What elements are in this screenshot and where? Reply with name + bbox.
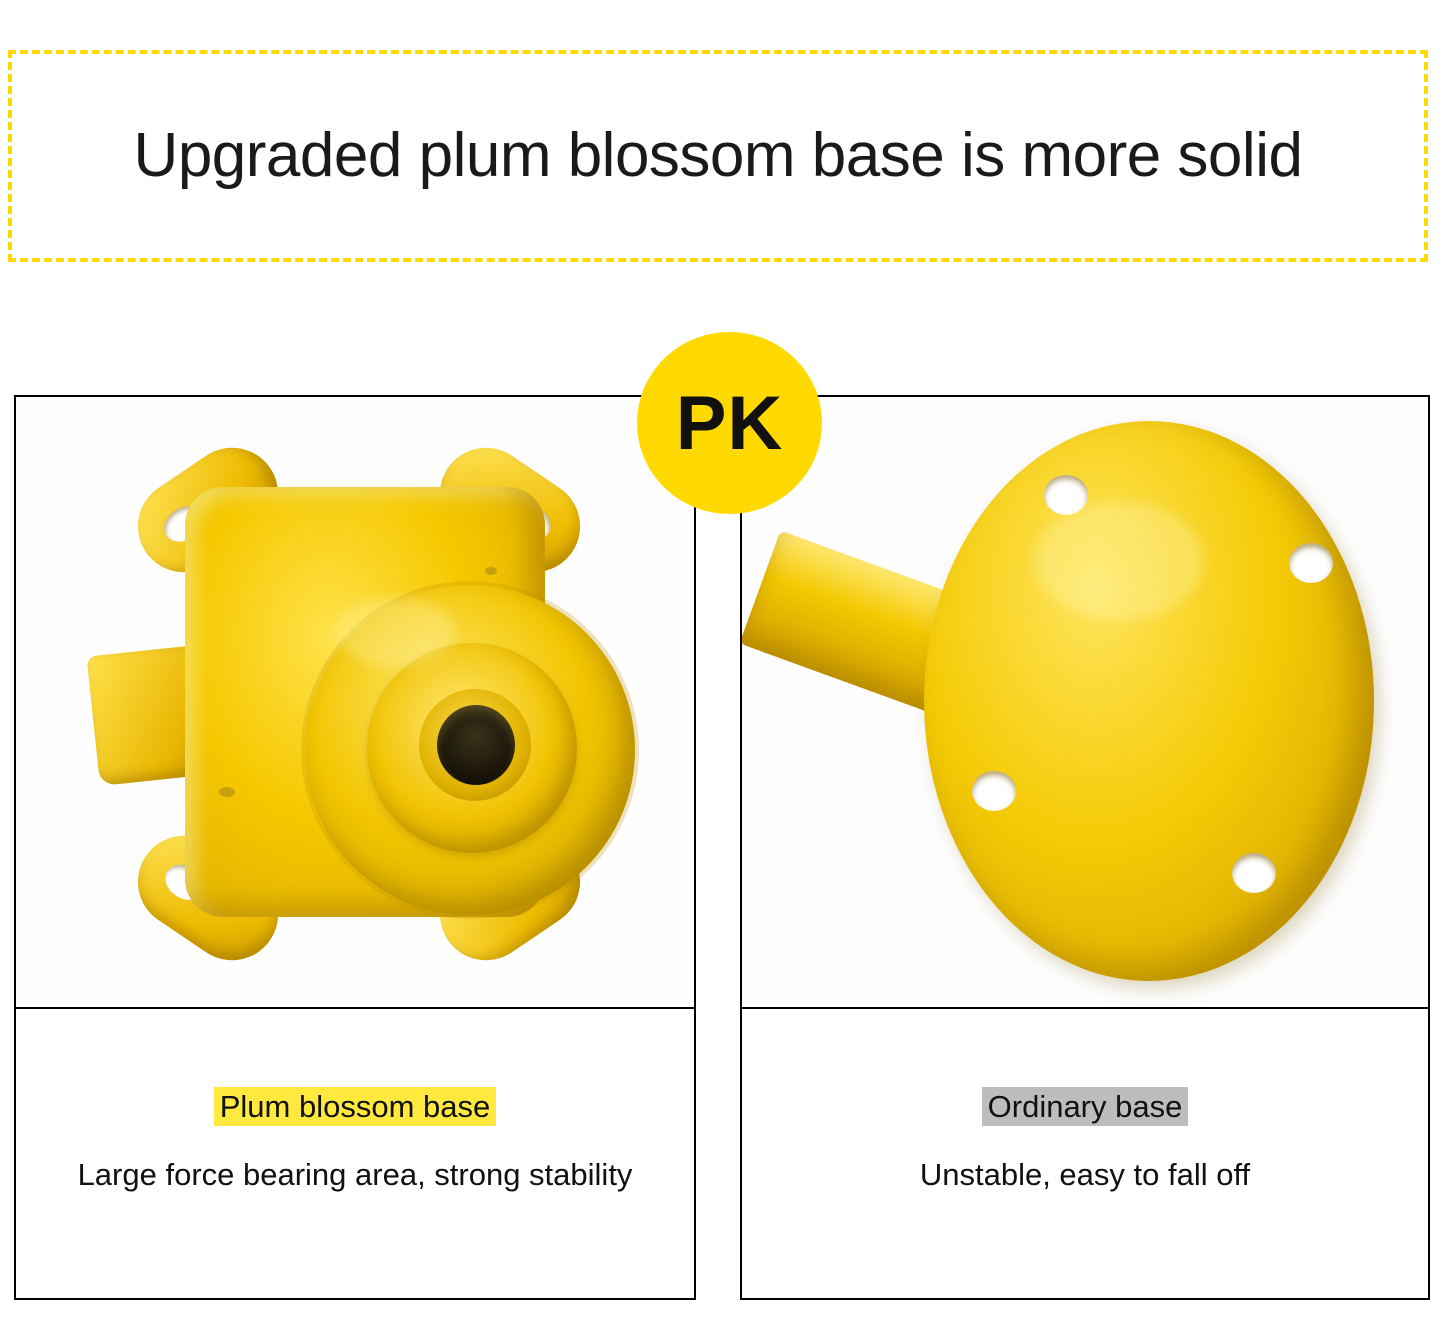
header-banner: Upgraded plum blossom base is more solid bbox=[8, 50, 1428, 262]
comparison-panel-right: Ordinary base Unstable, easy to fall off bbox=[740, 395, 1430, 1300]
caption-right-subtitle: Unstable, easy to fall off bbox=[920, 1156, 1250, 1193]
ordinary-base-illustration bbox=[742, 397, 1428, 1007]
middle-ring bbox=[367, 643, 577, 853]
inner-ring bbox=[419, 689, 531, 801]
plum-blossom-base-photo bbox=[16, 397, 694, 1009]
surface-speck bbox=[219, 787, 235, 797]
pk-badge-label: PK bbox=[676, 380, 784, 467]
ordinary-base-photo bbox=[742, 397, 1428, 1009]
bolt-hole-icon bbox=[1232, 853, 1276, 893]
plum-blossom-base-illustration bbox=[75, 432, 635, 972]
comparison-panel-left: Plum blossom base Large force bearing ar… bbox=[14, 395, 696, 1300]
caption-right-title: Ordinary base bbox=[982, 1087, 1189, 1126]
surface-speck bbox=[485, 567, 497, 575]
caption-left-title: Plum blossom base bbox=[214, 1087, 497, 1126]
bolt-hole-icon bbox=[972, 771, 1016, 811]
caption-left: Plum blossom base Large force bearing ar… bbox=[16, 1009, 694, 1298]
caption-right: Ordinary base Unstable, easy to fall off bbox=[742, 1009, 1428, 1298]
base-plate-body bbox=[185, 487, 545, 917]
bolt-hole-icon bbox=[1289, 543, 1333, 583]
round-base-plate bbox=[924, 421, 1374, 981]
caption-left-subtitle: Large force bearing area, strong stabili… bbox=[78, 1156, 633, 1193]
pk-badge: PK bbox=[637, 332, 822, 514]
highlight-sheen bbox=[335, 597, 455, 667]
comparison-area: PK bbox=[0, 300, 1445, 1329]
highlight-sheen bbox=[1034, 501, 1204, 621]
page-title: Upgraded plum blossom base is more solid bbox=[134, 122, 1303, 190]
center-bore bbox=[437, 705, 515, 785]
